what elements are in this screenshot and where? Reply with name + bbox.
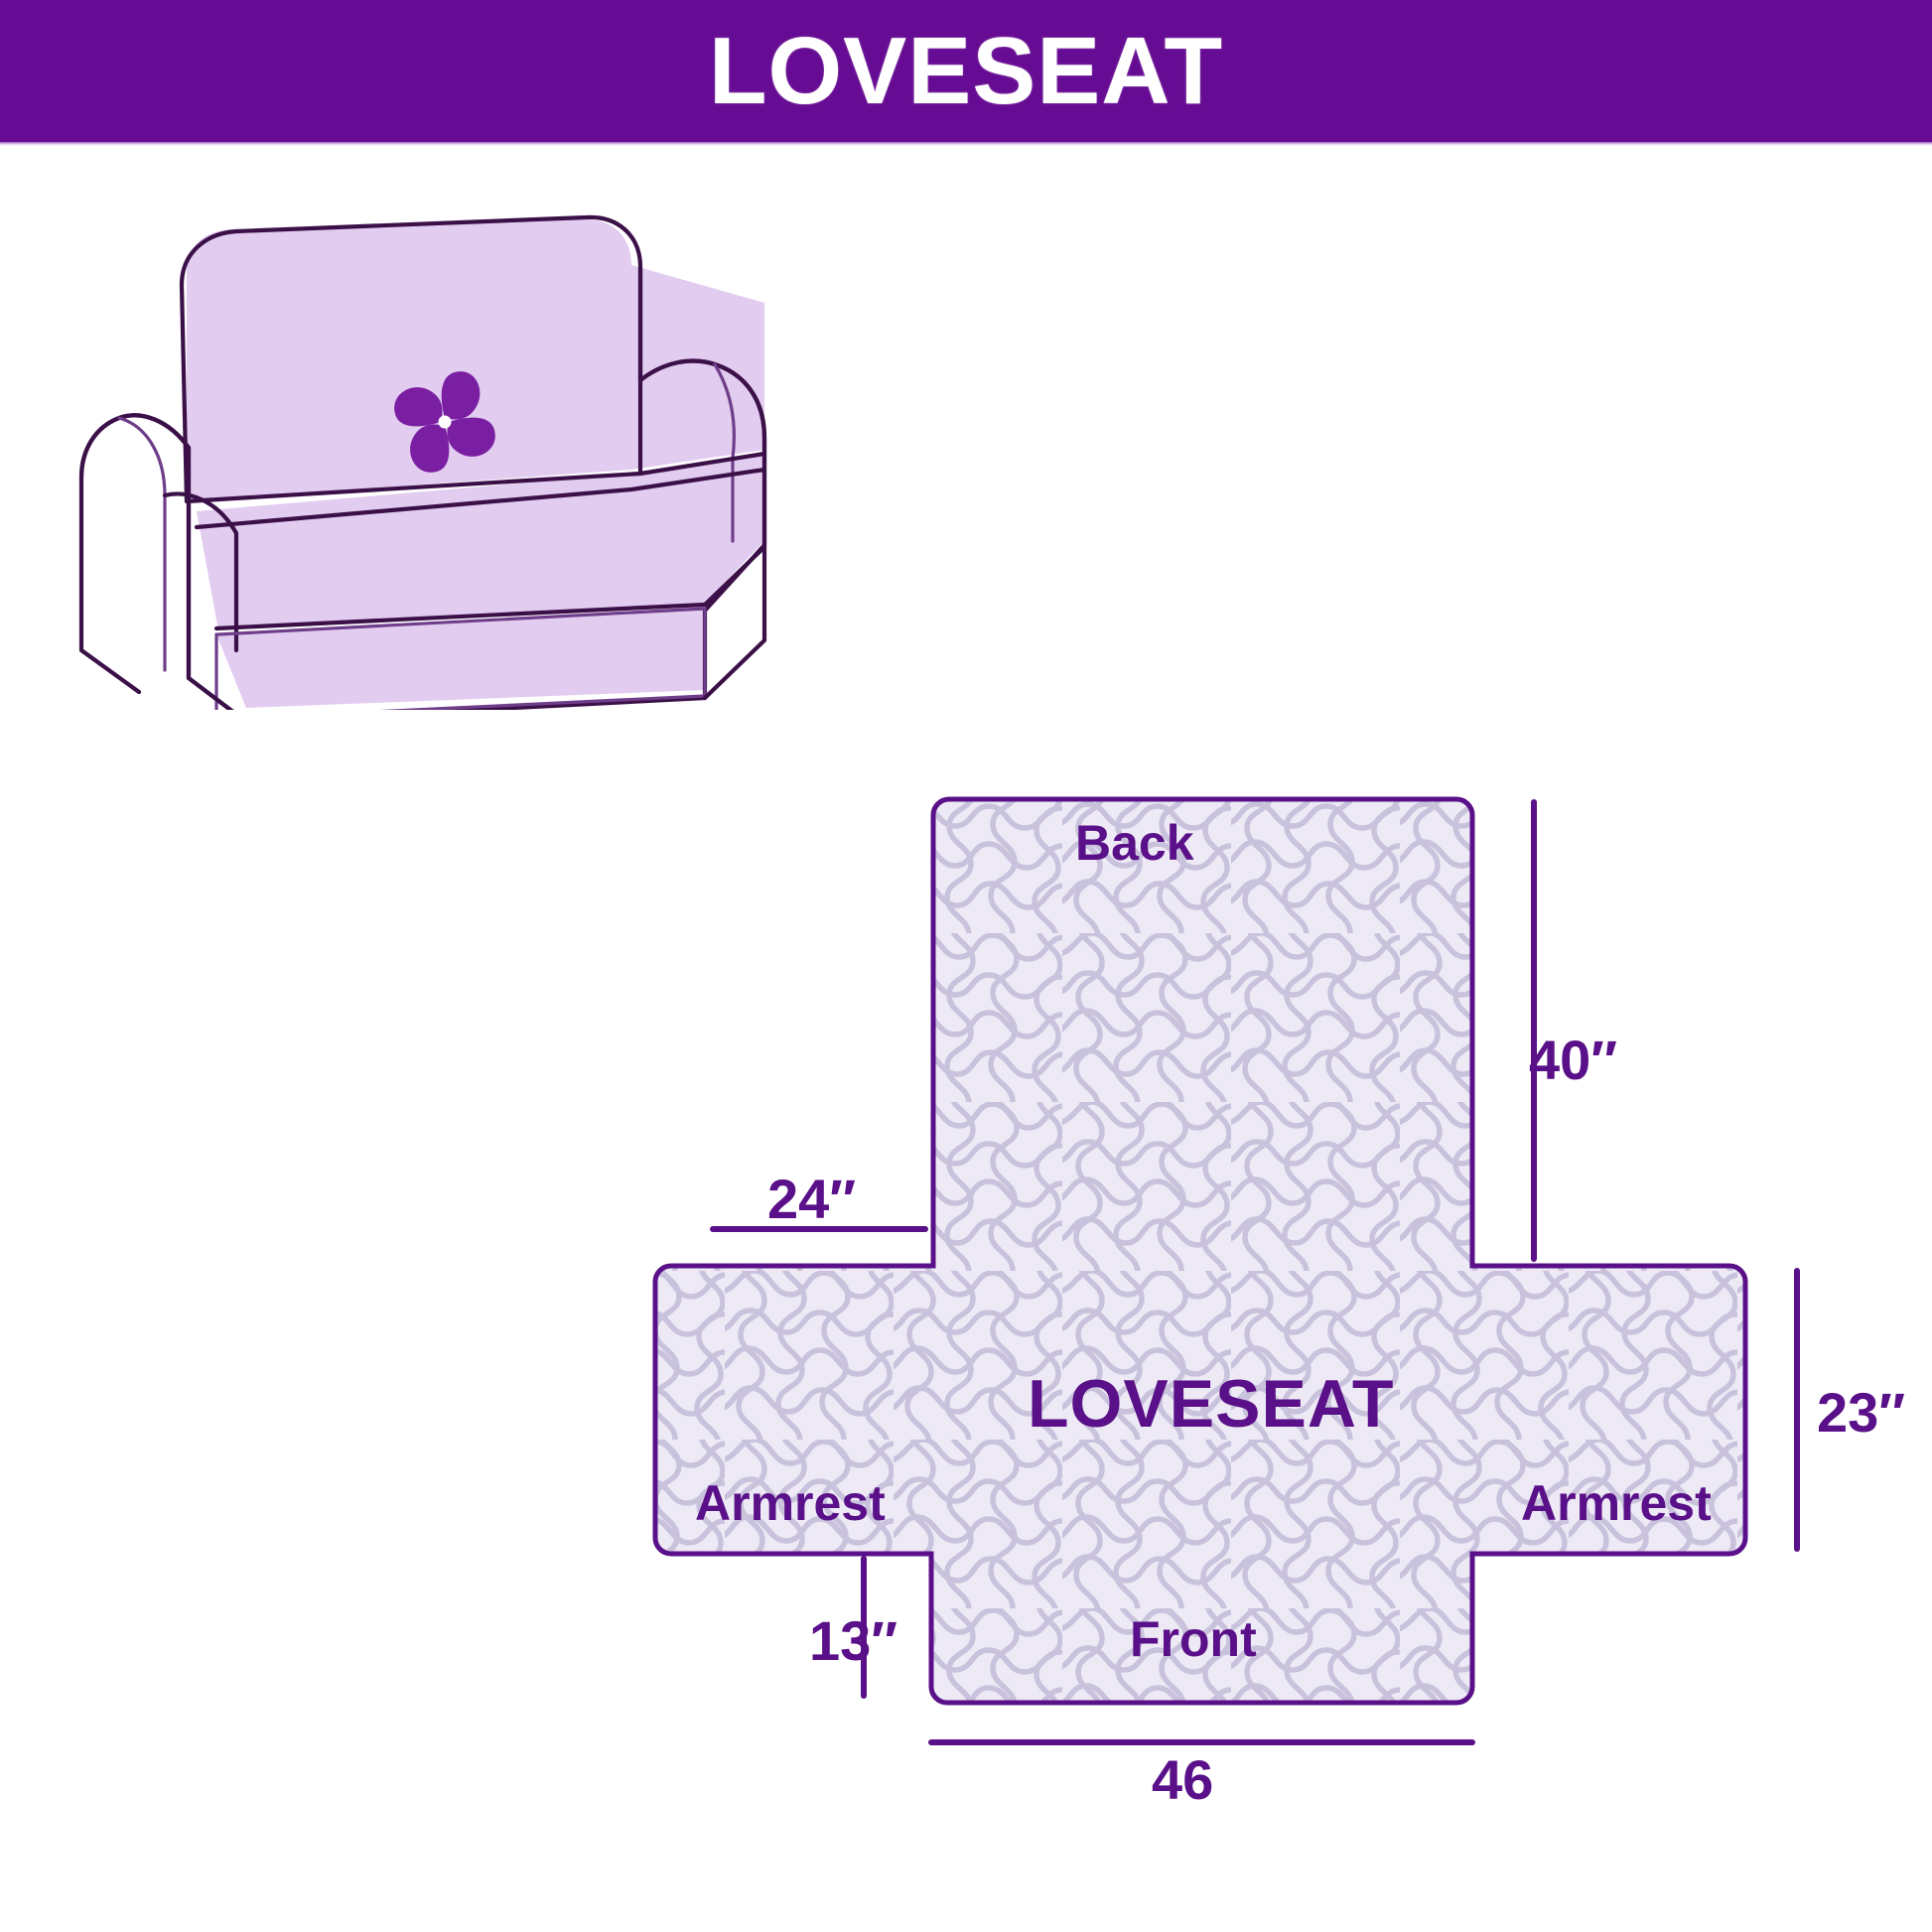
page-title: LOVESEAT [0, 0, 1932, 142]
dimension-label-front-height: 13″ [809, 1608, 897, 1673]
panel-label-armrest-right: Armrest [1521, 1474, 1712, 1532]
panel-label-loveseat: LOVESEAT [1028, 1365, 1394, 1443]
panel-label-back: Back [1075, 814, 1194, 872]
panel-label-front: Front [1130, 1610, 1257, 1668]
dimension-label-back-offset: 24″ [767, 1167, 856, 1231]
dimension-label-armrest-height: 23″ [1817, 1380, 1905, 1445]
loveseat-cover-layout-diagram [556, 764, 1932, 1916]
dimension-label-back-height: 40″ [1529, 1028, 1617, 1092]
dimension-label-front-width: 46 [1152, 1747, 1213, 1812]
panel-label-armrest-left: Armrest [695, 1474, 886, 1532]
header-underline-divider [0, 142, 1932, 146]
header-banner: LOVESEAT [0, 0, 1932, 142]
cover-cross-shape [655, 799, 1745, 1703]
loveseat-illustration: .ln { fill:none; stroke:#3B1048; stroke-… [69, 213, 933, 710]
